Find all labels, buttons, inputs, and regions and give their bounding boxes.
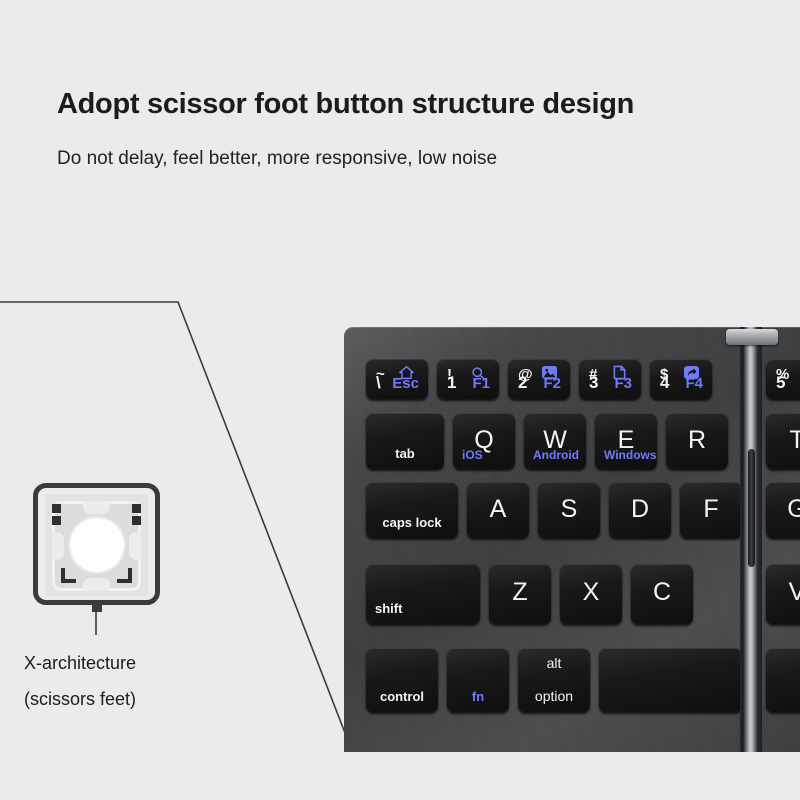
key-z[interactable]: Z: [489, 564, 551, 624]
key-caps-lock[interactable]: caps lock: [366, 482, 458, 538]
key-g[interactable]: G: [766, 482, 800, 538]
key-esc-label: Esc: [392, 375, 419, 392]
key-f3-label: F3: [614, 375, 632, 392]
keyboard-panel-left: ~ \ Esc ! 1 F1 @ 2 F2: [344, 327, 744, 752]
key-control-label: control: [366, 690, 438, 703]
key-alt-label: alt: [518, 656, 590, 670]
key-spacebar[interactable]: [599, 648, 742, 712]
switch-caption: X-architecture (scissors feet): [24, 645, 136, 717]
key-f-label: F: [680, 497, 742, 522]
keyboard-panel-right: % 5 T G V: [756, 327, 800, 752]
switch-plunger-circle-icon: [70, 518, 124, 572]
keyboard-hinge-pin: [748, 449, 755, 567]
key-shift-label: shift: [375, 602, 402, 615]
key-1-digit: 1: [447, 374, 456, 391]
key-d[interactable]: D: [609, 482, 671, 538]
key-spacebar-right[interactable]: [766, 648, 800, 712]
retention-clip-icon: [61, 568, 76, 583]
key-tab-label: tab: [366, 447, 444, 460]
switch-caption-line2: (scissors feet): [24, 681, 136, 717]
key-r-label: R: [666, 428, 728, 453]
key-fn[interactable]: fn: [447, 648, 509, 712]
key-tab[interactable]: tab: [366, 413, 444, 469]
key-s-label: S: [538, 497, 600, 522]
key-r[interactable]: R: [666, 413, 728, 469]
key-z-label: Z: [489, 580, 551, 605]
key-esc-backslash: \: [376, 374, 381, 391]
retention-clip-icon: [132, 504, 141, 513]
key-5[interactable]: % 5: [766, 359, 800, 399]
page-title: Adopt scissor foot button structure desi…: [57, 88, 634, 121]
key-2-digit: 2: [518, 374, 527, 391]
retention-clip-icon: [52, 504, 61, 513]
x-frame-notch-bottom: [83, 578, 110, 591]
keyboard-hinge-barrel: [726, 329, 778, 345]
key-2-f2[interactable]: @ 2 F2: [508, 359, 570, 399]
key-x-label: X: [560, 580, 622, 605]
key-4-f4[interactable]: $ 4 F4: [650, 359, 712, 399]
key-d-label: D: [609, 497, 671, 522]
key-t-label: T: [766, 428, 800, 453]
switch-caption-line1: X-architecture: [24, 645, 136, 681]
retention-clip-icon: [117, 568, 132, 583]
key-t[interactable]: T: [766, 413, 800, 469]
retention-clip-icon: [52, 516, 61, 525]
key-w[interactable]: W Android: [524, 413, 586, 469]
x-frame-notch-left: [52, 532, 64, 561]
key-alt-option[interactable]: alt option: [518, 648, 590, 712]
key-v[interactable]: V: [766, 564, 800, 624]
key-a[interactable]: A: [467, 482, 529, 538]
key-q[interactable]: Q iOS: [453, 413, 515, 469]
key-s[interactable]: S: [538, 482, 600, 538]
key-3-f3[interactable]: # 3 F3: [579, 359, 641, 399]
key-a-label: A: [467, 497, 529, 522]
key-q-os-label: iOS: [462, 449, 483, 461]
key-e-os-label: Windows: [604, 449, 657, 461]
key-shift[interactable]: shift: [366, 564, 480, 624]
key-f4-label: F4: [685, 375, 703, 392]
key-1-f1[interactable]: ! 1 F1: [437, 359, 499, 399]
foldable-keyboard: ~ \ Esc ! 1 F1 @ 2 F2: [344, 327, 800, 752]
key-e[interactable]: E Windows: [595, 413, 657, 469]
key-f[interactable]: F: [680, 482, 742, 538]
page-subtitle: Do not delay, feel better, more responsi…: [57, 148, 497, 170]
key-3-digit: 3: [589, 374, 598, 391]
key-c-label: C: [631, 580, 693, 605]
key-esc[interactable]: ~ \ Esc: [366, 359, 428, 399]
key-v-label: V: [766, 580, 800, 605]
key-g-label: G: [766, 497, 800, 522]
key-5-digit: 5: [776, 374, 785, 391]
x-frame-notch-right: [129, 532, 141, 561]
key-option-label: option: [518, 689, 590, 703]
key-4-digit: 4: [660, 374, 669, 391]
key-fn-label: fn: [447, 690, 509, 703]
scissor-switch-diagram: [33, 483, 160, 605]
key-f1-label: F1: [472, 375, 490, 392]
key-w-os-label: Android: [533, 449, 579, 461]
key-c[interactable]: C: [631, 564, 693, 624]
key-f2-label: F2: [543, 375, 561, 392]
switch-bottom-tab: [92, 604, 102, 612]
key-caps-lock-label: caps lock: [366, 516, 458, 529]
x-frame-notch-top: [83, 501, 110, 514]
key-control[interactable]: control: [366, 648, 438, 712]
key-x[interactable]: X: [560, 564, 622, 624]
retention-clip-icon: [132, 516, 141, 525]
